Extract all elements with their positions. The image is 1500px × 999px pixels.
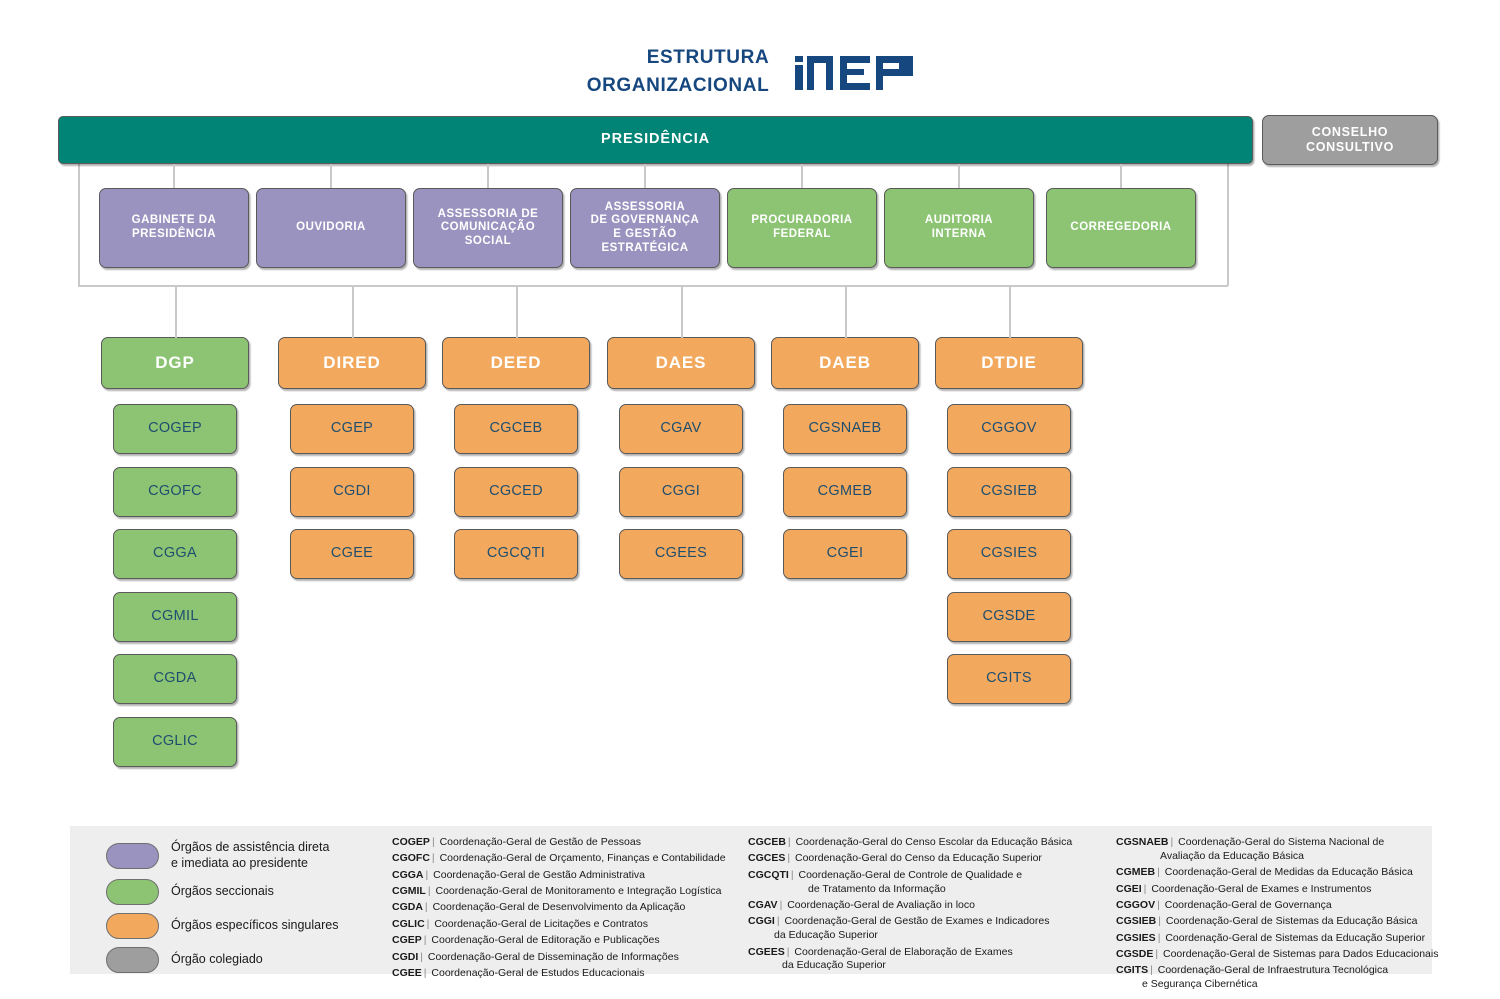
connector-advisory-5 <box>958 164 960 188</box>
legend-swatch-label: Órgãos seccionais <box>171 884 274 900</box>
legend-swatch-label-line: Órgãos seccionais <box>171 884 274 900</box>
unit-label: CGSIEB <box>981 483 1038 500</box>
unit-label: CGCQTI <box>487 545 545 562</box>
legend-acronym-row: CGGA| Coordenação-Geral de Gestão Admini… <box>392 869 752 883</box>
legend-separator: | <box>1155 899 1162 911</box>
legend-acronym-description: Coordenação-Geral do Censo Escolar da Ed… <box>793 836 1073 848</box>
legend-acronym-code: CGGA <box>392 869 424 881</box>
unit-label: CGSDE <box>982 608 1035 625</box>
advisory-box-2[interactable]: ASSESSORIA DECOMUNICAÇÃOSOCIAL <box>413 188 563 268</box>
connector-department-2 <box>516 285 518 338</box>
department-label: DEED <box>491 353 542 373</box>
unit-box-cgee[interactable]: CGEE <box>290 529 414 579</box>
conselho-consultivo-box[interactable]: CONSELHO CONSULTIVO <box>1262 115 1438 165</box>
advisory-box-label-line: AUDITORIA <box>925 214 993 228</box>
conselho-line1: CONSELHO <box>1306 125 1394 140</box>
connector-advisory-6 <box>1120 164 1122 188</box>
legend-acronym-row: CGLIC| Coordenação-Geral de Licitações e… <box>392 918 752 932</box>
legend-swatch-label-line: e imediata ao presidente <box>171 856 329 872</box>
unit-label: CGSIES <box>981 545 1038 562</box>
unit-label: CGGA <box>153 545 197 562</box>
advisory-box-label-line: CORREGEDORIA <box>1070 221 1171 235</box>
department-box-dgp[interactable]: DGP <box>101 337 249 389</box>
legend-acronym-description-cont: e Segurança Cibernética <box>1116 978 1436 992</box>
legend-acronym-row: CGGI| Coordenação-Geral de Gestão de Exa… <box>748 915 1118 943</box>
unit-label: CGEP <box>331 420 373 437</box>
legend-separator: | <box>785 946 792 958</box>
page-title: ESTRUTURA ORGANIZACIONAL <box>587 44 770 99</box>
legend-acronym-code: CGLIC <box>392 918 425 930</box>
legend-swatch-label-line: Órgãos específicos singulares <box>171 918 338 934</box>
legend-acronym-code: CGITS <box>1116 964 1148 976</box>
legend-acronym-description-cont: da Educação Superior <box>748 929 1118 943</box>
advisory-box-label-line: COMUNICAÇÃO <box>438 221 539 235</box>
advisory-box-0[interactable]: GABINETE DAPRESIDÊNCIA <box>99 188 249 268</box>
unit-box-cgei[interactable]: CGEI <box>783 529 907 579</box>
connector-department-3 <box>681 285 683 338</box>
unit-label: CGAV <box>660 420 701 437</box>
legend-acronym-code: CGGOV <box>1116 899 1155 911</box>
unit-label: CGCED <box>489 483 543 500</box>
unit-box-cgdi[interactable]: CGDI <box>290 467 414 517</box>
legend-acronym-description: Coordenação-Geral de Medidas da Educação… <box>1162 866 1413 878</box>
legend-separator: | <box>789 869 796 881</box>
unit-label: CGDI <box>333 483 370 500</box>
legend-acronym-row: CGAV| Coordenação-Geral de Avaliação in … <box>748 899 1118 913</box>
legend-separator: | <box>430 836 437 848</box>
unit-box-cgda[interactable]: CGDA <box>113 654 237 704</box>
connector-department-5 <box>1009 285 1011 338</box>
unit-box-cgees[interactable]: CGEES <box>619 529 743 579</box>
advisory-box-label-line: ASSESSORIA DE <box>438 208 539 222</box>
legend-acronym-code: CGMEB <box>1116 866 1155 878</box>
legend-acronym-code: COGEP <box>392 836 430 848</box>
legend-acronym-code: CGDA <box>392 901 423 913</box>
unit-box-cgsies[interactable]: CGSIES <box>947 529 1071 579</box>
department-box-deed[interactable]: DEED <box>442 337 590 389</box>
legend-acronym-description: Coordenação-Geral de Sistemas da Educaçã… <box>1163 915 1417 927</box>
advisory-box-4[interactable]: PROCURADORIAFEDERAL <box>727 188 877 268</box>
connector-advisory-1 <box>330 164 332 188</box>
legend-acronym-row: CGMIL| Coordenação-Geral de Monitorament… <box>392 885 752 899</box>
legend-acronym-row: CGEE| Coordenação-Geral de Estudos Educa… <box>392 967 752 981</box>
advisory-box-3[interactable]: ASSESSORIADE GOVERNANÇAE GESTÃOESTRATÉGI… <box>570 188 720 268</box>
legend-acronym-description-cont: da Educação Superior <box>748 959 1118 973</box>
legend-acronym-description: Coordenação-Geral de Gestão de Pessoas <box>437 836 641 848</box>
unit-label: COGEP <box>148 420 202 437</box>
legend-separator: | <box>1156 915 1163 927</box>
page-header: ESTRUTURA ORGANIZACIONAL <box>0 44 1500 99</box>
legend-acronym-description: Coordenação-Geral de Disseminação de Inf… <box>425 951 679 963</box>
page-title-line1: ESTRUTURA <box>587 44 770 72</box>
legend-acronym-description: Coordenação-Geral de Editoração e Public… <box>429 934 660 946</box>
unit-box-cgits[interactable]: CGITS <box>947 654 1071 704</box>
unit-box-cgceb[interactable]: CGCEB <box>454 404 578 454</box>
unit-label: CGLIC <box>152 733 198 750</box>
legend-acronym-row: CGSNAEB| Coordenação-Geral do Sistema Na… <box>1116 836 1436 864</box>
legend-panel: Órgãos de assistência diretae imediata a… <box>70 826 1432 974</box>
connector-advisory-0 <box>173 164 175 188</box>
legend-acronym-code: CGAV <box>748 899 778 911</box>
advisory-box-label-line: PROCURADORIA <box>751 214 852 228</box>
connector-advisory-3 <box>644 164 646 188</box>
legend-acronym-code: CGCES <box>748 852 785 864</box>
legend-swatch-row-2: Órgãos específicos singulares <box>106 913 406 939</box>
unit-box-cggov[interactable]: CGGOV <box>947 404 1071 454</box>
connector-frame-right <box>1227 164 1229 286</box>
unit-label: CGGI <box>662 483 700 500</box>
legend-acronym-description: Coordenação-Geral de Orçamento, Finanças… <box>437 852 726 864</box>
legend-acronym-description: Coordenação-Geral de Licitações e Contra… <box>431 918 648 930</box>
legend-acronym-code: CGCQTI <box>748 869 789 881</box>
unit-box-cgsde[interactable]: CGSDE <box>947 592 1071 642</box>
legend-acronym-row: CGGOV| Coordenação-Geral de Governança <box>1116 899 1436 913</box>
unit-box-cgcqti[interactable]: CGCQTI <box>454 529 578 579</box>
advisory-box-label-line: DE GOVERNANÇA <box>591 214 700 228</box>
legend-acronym-description-cont: Avaliação da Educação Básica <box>1116 850 1436 864</box>
conselho-line2: CONSULTIVO <box>1306 140 1394 155</box>
unit-box-cgmeb[interactable]: CGMEB <box>783 467 907 517</box>
advisory-box-6[interactable]: CORREGEDORIA <box>1046 188 1196 268</box>
legend-acronym-code: CGSIEB <box>1116 915 1156 927</box>
presidency-box[interactable]: PRESIDÊNCIA <box>58 116 1253 164</box>
connector-department-0 <box>175 285 177 338</box>
legend-swatch-label-line: Órgãos de assistência direta <box>171 840 329 856</box>
unit-box-cggi[interactable]: CGGI <box>619 467 743 517</box>
legend-swatch-list: Órgãos de assistência diretae imediata a… <box>106 840 406 981</box>
legend-separator: | <box>418 951 425 963</box>
legend-acronym-description: Coordenação-Geral de Estudos Educacionai… <box>429 967 645 979</box>
legend-acronym-description: Coordenação-Geral de Gestão de Exames e … <box>782 915 1050 927</box>
unit-box-cgofc[interactable]: CGOFC <box>113 467 237 517</box>
unit-box-cgmil[interactable]: CGMIL <box>113 592 237 642</box>
legend-swatch-label: Órgãos específicos singulares <box>171 918 338 934</box>
legend-acronym-code: CGEI <box>1116 883 1142 895</box>
unit-label: CGEES <box>655 545 707 562</box>
advisory-box-1[interactable]: OUVIDORIA <box>256 188 406 268</box>
advisory-box-label-line: ASSESSORIA <box>591 201 700 215</box>
connector-department-4 <box>845 285 847 338</box>
legend-acronym-row: CGEI| Coordenação-Geral de Exames e Inst… <box>1116 883 1436 897</box>
legend-separator: | <box>786 836 793 848</box>
connector-frame-bottom <box>78 285 1228 287</box>
unit-box-cgep[interactable]: CGEP <box>290 404 414 454</box>
connector-advisory-4 <box>801 164 803 188</box>
unit-label: CGSNAEB <box>808 420 881 437</box>
legend-acronym-description: Coordenação-Geral de Sistemas da Educaçã… <box>1162 932 1425 944</box>
legend-acronym-row: CGMEB| Coordenação-Geral de Medidas da E… <box>1116 866 1436 880</box>
legend-acronyms-column-3: CGSNAEB| Coordenação-Geral do Sistema Na… <box>1116 836 1436 995</box>
legend-separator: | <box>422 934 429 946</box>
legend-separator: | <box>430 852 437 864</box>
legend-swatch-row-1: Órgãos seccionais <box>106 879 406 905</box>
advisory-box-label-line: E GESTÃO <box>591 228 700 242</box>
legend-swatch-label-line: Órgão colegiado <box>171 952 263 968</box>
legend-acronym-code: CGEES <box>748 946 785 958</box>
page-title-line2: ORGANIZACIONAL <box>587 72 770 100</box>
unit-box-cgsnaeb[interactable]: CGSNAEB <box>783 404 907 454</box>
legend-swatch-row-0: Órgãos de assistência diretae imediata a… <box>106 840 406 871</box>
advisory-box-label-line: SOCIAL <box>438 235 539 249</box>
legend-acronym-description: Coordenação-Geral de Elaboração de Exame… <box>792 946 1013 958</box>
advisory-box-label-line: PRESIDÊNCIA <box>132 228 217 242</box>
department-box-dtdie[interactable]: DTDIE <box>935 337 1083 389</box>
legend-acronym-row: CGITS| Coordenação-Geral de Infraestrutu… <box>1116 964 1436 992</box>
advisory-box-label-line: INTERNA <box>925 228 993 242</box>
legend-acronym-row: COGEP| Coordenação-Geral de Gestão de Pe… <box>392 836 752 850</box>
unit-box-cglic[interactable]: CGLIC <box>113 717 237 767</box>
department-label: DTDIE <box>981 353 1037 373</box>
department-label: DGP <box>155 353 195 373</box>
advisory-box-label-line: OUVIDORIA <box>296 221 366 235</box>
unit-label: CGITS <box>986 670 1032 687</box>
legend-swatch-chip <box>106 879 159 905</box>
legend-acronym-code: CGSIES <box>1116 932 1156 944</box>
legend-acronym-row: CGEES| Coordenação-Geral de Elaboração d… <box>748 946 1118 974</box>
legend-swatch-label: Órgão colegiado <box>171 952 263 968</box>
legend-separator: | <box>423 901 430 913</box>
legend-acronym-description: Coordenação-Geral de Sistemas para Dados… <box>1160 948 1438 960</box>
legend-acronym-row: CGCEB| Coordenação-Geral do Censo Escola… <box>748 836 1118 850</box>
department-label: DAES <box>656 353 707 373</box>
legend-acronym-row: CGOFC| Coordenação-Geral de Orçamento, F… <box>392 852 752 866</box>
legend-acronym-code: CGSDE <box>1116 948 1153 960</box>
advisory-box-label-line: ESTRATÉGICA <box>591 242 700 256</box>
legend-swatch-label: Órgãos de assistência diretae imediata a… <box>171 840 329 871</box>
inep-logo-icon <box>795 48 913 95</box>
legend-acronym-row: CGSIES| Coordenação-Geral de Sistemas da… <box>1116 932 1436 946</box>
legend-separator: | <box>422 967 429 979</box>
legend-acronyms-column-2: CGCEB| Coordenação-Geral do Censo Escola… <box>748 836 1118 976</box>
legend-separator: | <box>1155 866 1162 878</box>
legend-acronym-code: CGGI <box>748 915 775 927</box>
org-chart-page: ESTRUTURA ORGANIZACIONAL <box>0 0 1500 999</box>
legend-acronym-description-cont: de Tratamento da Informação <box>748 883 1118 897</box>
connector-frame-left <box>78 164 80 286</box>
legend-acronym-description: Coordenação-Geral de Controle de Qualida… <box>796 869 1022 881</box>
advisory-box-label-line: FEDERAL <box>751 228 852 242</box>
legend-acronym-description: Coordenação-Geral do Sistema Nacional de <box>1175 836 1384 848</box>
legend-acronym-row: CGDI| Coordenação-Geral de Disseminação … <box>392 951 752 965</box>
advisory-box-5[interactable]: AUDITORIAINTERNA <box>884 188 1034 268</box>
department-box-daeb[interactable]: DAEB <box>771 337 919 389</box>
legend-acronym-row: CGEP| Coordenação-Geral de Editoração e … <box>392 934 752 948</box>
legend-separator: | <box>1148 964 1155 976</box>
legend-acronym-description: Coordenação-Geral de Gestão Administrati… <box>430 869 645 881</box>
legend-acronym-description: Coordenação-Geral de Infraestrutura Tecn… <box>1155 964 1388 976</box>
legend-acronym-row: CGSDE| Coordenação-Geral de Sistemas par… <box>1116 948 1436 962</box>
unit-label: CGGOV <box>981 420 1036 437</box>
legend-acronym-row: CGSIEB| Coordenação-Geral de Sistemas da… <box>1116 915 1436 929</box>
legend-swatch-row-3: Órgão colegiado <box>106 947 406 973</box>
legend-acronym-code: CGCEB <box>748 836 786 848</box>
legend-acronym-row: CGCQTI| Coordenação-Geral de Controle de… <box>748 869 1118 897</box>
unit-label: CGCEB <box>489 420 542 437</box>
unit-box-cgav[interactable]: CGAV <box>619 404 743 454</box>
connector-department-1 <box>352 285 354 338</box>
legend-acronyms-column-1: COGEP| Coordenação-Geral de Gestão de Pe… <box>392 836 752 983</box>
legend-separator: | <box>426 885 433 897</box>
unit-box-cgced[interactable]: CGCED <box>454 467 578 517</box>
legend-acronym-description: Coordenação-Geral de Monitoramento e Int… <box>433 885 722 897</box>
legend-acronym-row: CGDA| Coordenação-Geral de Desenvolvimen… <box>392 901 752 915</box>
unit-label: CGMEB <box>818 483 873 500</box>
legend-acronym-code: CGDI <box>392 951 418 963</box>
legend-swatch-chip <box>106 913 159 939</box>
unit-label: CGDA <box>153 670 196 687</box>
legend-acronym-description: Coordenação-Geral do Censo da Educação S… <box>792 852 1042 864</box>
unit-label: CGEE <box>331 545 373 562</box>
legend-swatch-chip <box>106 843 159 869</box>
advisory-box-label-line: GABINETE DA <box>132 214 217 228</box>
department-label: DIRED <box>323 353 380 373</box>
legend-acronym-code: CGEP <box>392 934 422 946</box>
legend-acronym-description: Coordenação-Geral de Exames e Instrument… <box>1148 883 1371 895</box>
unit-label: CGMIL <box>151 608 198 625</box>
legend-acronym-row: CGCES| Coordenação-Geral do Censo da Edu… <box>748 852 1118 866</box>
legend-acronym-code: CGOFC <box>392 852 430 864</box>
department-box-dired[interactable]: DIRED <box>278 337 426 389</box>
legend-acronym-code: CGEE <box>392 967 422 979</box>
unit-box-cgsieb[interactable]: CGSIEB <box>947 467 1071 517</box>
department-label: DAEB <box>819 353 871 373</box>
legend-acronym-description: Coordenação-Geral de Governança <box>1162 899 1332 911</box>
legend-acronym-code: CGSNAEB <box>1116 836 1169 848</box>
legend-separator: | <box>775 915 782 927</box>
connector-advisory-2 <box>487 164 489 188</box>
legend-acronym-description: Coordenação-Geral de Desenvolvimento da … <box>430 901 686 913</box>
department-box-daes[interactable]: DAES <box>607 337 755 389</box>
unit-label: CGEI <box>827 545 864 562</box>
unit-label: CGOFC <box>148 483 202 500</box>
legend-swatch-chip <box>106 947 159 973</box>
unit-box-cgga[interactable]: CGGA <box>113 529 237 579</box>
legend-acronym-code: CGMIL <box>392 885 426 897</box>
legend-acronym-description: Coordenação-Geral de Avaliação in loco <box>784 899 975 911</box>
unit-box-cogep[interactable]: COGEP <box>113 404 237 454</box>
